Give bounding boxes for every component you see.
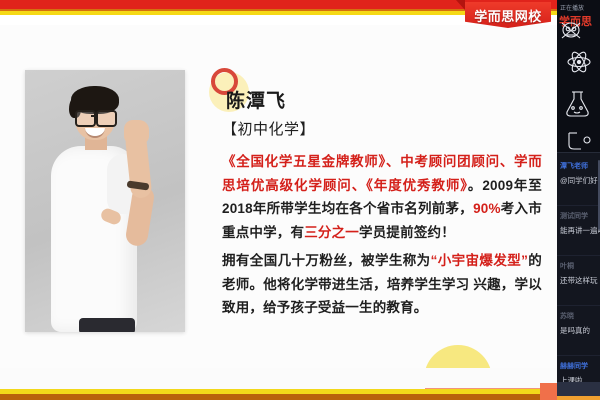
bottom-white-spacer bbox=[0, 368, 557, 389]
skull-icon bbox=[562, 23, 580, 38]
list-item[interactable]: 苏晓 是吗真的 bbox=[557, 306, 600, 356]
comment-user: 叶桐 bbox=[560, 261, 600, 271]
panel-bottom-accent bbox=[557, 396, 600, 400]
bio-nickname: “小宇宙爆发型” bbox=[431, 253, 529, 268]
photo-glasses-bridge bbox=[91, 115, 98, 117]
comment-text: 是吗真的 bbox=[560, 325, 600, 336]
bio-fraction: 三分之一 bbox=[304, 225, 359, 240]
teacher-subject: 【初中化学】 bbox=[222, 118, 315, 139]
comment-user: 潭飞老师 bbox=[560, 161, 600, 171]
chemistry-doodles bbox=[557, 0, 600, 152]
list-item[interactable]: 测试同学 能再讲一遍吗 bbox=[557, 206, 600, 256]
teacher-profile-card: 学而思网校 陈潭飞 【初中化学】 《全 bbox=[0, 0, 557, 400]
panel-divider bbox=[557, 152, 600, 153]
list-item[interactable]: 叶桐 还带这样玩 bbox=[557, 256, 600, 306]
list-item[interactable]: 潭飞老师 @同学们好 bbox=[557, 156, 600, 206]
comment-list[interactable]: 潭飞老师 @同学们好 测试同学 能再讲一遍吗 叶桐 还带这样玩 苏晓 是吗真的 … bbox=[557, 156, 600, 382]
photo-pants bbox=[79, 318, 135, 332]
comment-text: @同学们好 bbox=[560, 175, 600, 186]
photo-glasses-left bbox=[75, 110, 96, 127]
teacher-bio: 《全国化学五星金牌教师》、中考顾问团顾问、学而思培优高级化学顾问、《年度优秀教师… bbox=[222, 150, 542, 325]
bio-signed: 学员提前签约！ bbox=[359, 225, 455, 240]
comment-text: 还带这样玩 bbox=[560, 275, 600, 286]
comment-user: 苏晓 bbox=[560, 311, 600, 321]
side-panel: 正在播放 学而思 bbox=[557, 0, 600, 400]
logo-ribbon-tail bbox=[456, 0, 465, 10]
bio-fans: 拥有全国几十万粉丝，被学生称为 bbox=[222, 253, 431, 268]
bottom-dark-line bbox=[0, 394, 557, 400]
screenshot-root: 学而思网校 陈潭飞 【初中化学】 《全 bbox=[0, 0, 600, 400]
atom-icon bbox=[568, 50, 590, 74]
comment-user: 赫赫同学 bbox=[560, 361, 600, 371]
flask-icon bbox=[567, 92, 588, 116]
photo-glasses-right bbox=[96, 110, 117, 127]
teacher-photo bbox=[25, 70, 185, 332]
video-thumbnail[interactable]: 正在播放 学而思 bbox=[557, 0, 600, 152]
comment-text: 能再讲一遍吗 bbox=[560, 225, 600, 236]
beaker-icon bbox=[569, 133, 590, 149]
bio-paragraph-2: 拥有全国几十万粉丝，被学生称为“小宇宙爆发型”的老师。他将化学带进生活，培养学生… bbox=[222, 249, 542, 320]
bio-percent: 90% bbox=[473, 201, 501, 216]
brand-logo-text: 学而思网校 bbox=[474, 6, 542, 25]
photo-fist bbox=[124, 120, 149, 144]
bio-paragraph-1: 《全国化学五星金牌教师》、中考顾问团顾问、学而思培优高级化学顾问、《年度优秀教师… bbox=[222, 150, 542, 244]
teacher-name: 陈潭飞 bbox=[226, 86, 286, 113]
comment-user: 测试同学 bbox=[560, 211, 600, 221]
bottom-corner-block bbox=[540, 383, 557, 400]
